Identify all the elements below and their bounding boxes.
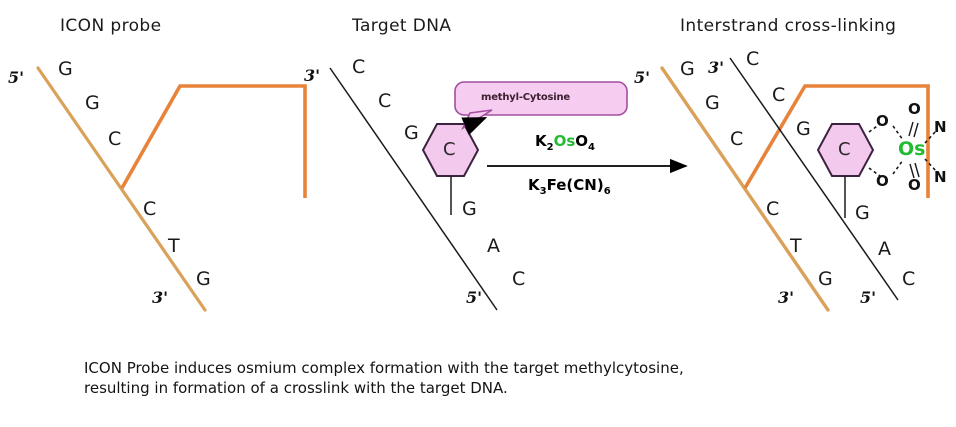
- middle-hexagon-label: C: [443, 139, 456, 160]
- reagent-top-o-sub: 4: [588, 142, 595, 153]
- complex-oxygen-3: O: [908, 100, 921, 118]
- complex-nitrogen-2: N: [934, 168, 947, 186]
- figure-caption: ICON Probe induces osmium complex format…: [84, 358, 904, 398]
- right-probe-base-t: T: [790, 235, 802, 257]
- right-probe-base-g1: G: [680, 58, 695, 80]
- middle-base-a: A: [487, 235, 500, 257]
- right-hexagon-label: C: [838, 139, 851, 160]
- caption-line-1: ICON Probe induces osmium complex format…: [84, 358, 904, 378]
- right-dna-base-g2: G: [855, 202, 870, 224]
- right-probe-base-g2: G: [705, 92, 720, 114]
- left-base-g3: G: [196, 268, 211, 290]
- left-five-prime-label: 5': [8, 68, 24, 87]
- figure-canvas: ICON probe 5' G G C C T G 3' Target DNA …: [0, 0, 956, 427]
- right-probe-base-c2: C: [766, 198, 779, 220]
- middle-five-prime-label: 5': [466, 288, 482, 307]
- right-probe-strand: [662, 68, 828, 310]
- middle-base-c1: C: [352, 56, 365, 78]
- left-base-g2: G: [85, 92, 100, 114]
- reagent-bottom-k-sub: 3: [540, 186, 547, 197]
- right-probe-five-prime-label: 5': [634, 68, 650, 87]
- left-base-c1: C: [108, 128, 121, 150]
- right-dna-five-prime-label: 5': [860, 288, 876, 307]
- reagent-top-o: O: [575, 132, 588, 150]
- right-probe-base-c1: C: [730, 128, 743, 150]
- left-base-t: T: [168, 235, 180, 257]
- complex-oxygen-4: O: [908, 176, 921, 194]
- middle-base-c3: C: [512, 268, 525, 290]
- panel-title-target-dna: Target DNA: [352, 16, 451, 36]
- left-base-c2: C: [143, 198, 156, 220]
- right-probe-three-prime-label: 3': [778, 288, 794, 307]
- reagent-top-k-sub: 2: [547, 142, 554, 153]
- right-dna-base-c1: C: [746, 48, 759, 70]
- reagent-top-os: Os: [554, 132, 576, 150]
- right-dna-base-c3: C: [902, 268, 915, 290]
- panel-title-icon-probe: ICON probe: [60, 16, 161, 36]
- reagent-top-k: K: [535, 132, 547, 150]
- panel-title-interstrand-cross-linking: Interstrand cross-linking: [680, 16, 896, 36]
- reagent-bottom-fecn: Fe(CN): [547, 176, 604, 194]
- reagent-bottom-k: K: [528, 176, 540, 194]
- middle-base-g2: G: [462, 198, 477, 220]
- middle-callout-bubble: [455, 82, 627, 128]
- left-base-g1: G: [58, 58, 73, 80]
- right-probe-base-g3: G: [818, 268, 833, 290]
- right-dna-three-prime-label: 3': [708, 58, 724, 77]
- right-dna-base-c2: C: [772, 84, 785, 106]
- right-dna-base-g1: G: [796, 118, 811, 140]
- reagent-top: K2OsO4: [535, 132, 595, 153]
- complex-oxygen-2: O: [876, 172, 889, 190]
- middle-three-prime-label: 3': [304, 66, 320, 85]
- right-dna-base-a: A: [878, 238, 891, 260]
- left-three-prime-label: 3': [152, 288, 168, 307]
- middle-base-c2: C: [378, 90, 391, 112]
- middle-base-g1: G: [404, 122, 419, 144]
- right-dna-strand: [730, 58, 898, 300]
- complex-oxygen-1: O: [876, 112, 889, 130]
- reagent-bottom: K3Fe(CN)6: [528, 176, 611, 197]
- left-probe-strand: [38, 68, 205, 310]
- complex-nitrogen-1: N: [934, 118, 947, 136]
- left-probe-linker: [122, 86, 305, 198]
- caption-line-2: resulting in formation of a crosslink wi…: [84, 378, 904, 398]
- callout-methyl-cytosine-text: methyl-Cytosine: [481, 92, 570, 103]
- reagent-bottom-sub: 6: [604, 186, 611, 197]
- complex-osmium: Os: [898, 138, 925, 160]
